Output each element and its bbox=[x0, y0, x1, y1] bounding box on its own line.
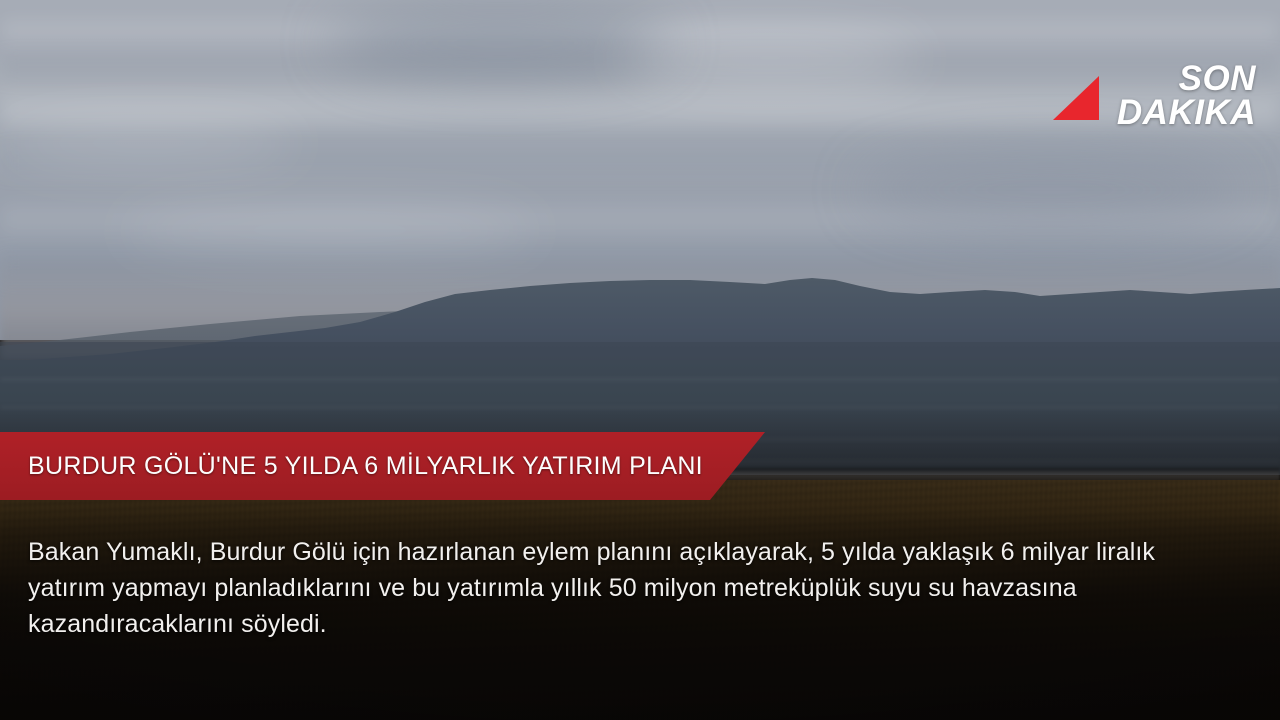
breaking-news-line1: SON bbox=[1117, 62, 1256, 96]
breaking-news-badge: SON DAKIKA bbox=[1053, 62, 1256, 130]
breaking-news-line2: DAKIKA bbox=[1117, 96, 1256, 130]
headline-text: BURDUR GÖLÜ'NE 5 YILDA 6 MİLYARLIK YATIR… bbox=[28, 432, 703, 500]
summary-text: Bakan Yumaklı, Burdur Gölü için hazırlan… bbox=[28, 534, 1188, 642]
breaking-news-label: SON DAKIKA bbox=[1117, 62, 1256, 130]
news-card: SON DAKIKA BURDUR GÖLÜ'NE 5 YILDA 6 MİLY… bbox=[0, 0, 1280, 720]
headline-ribbon: BURDUR GÖLÜ'NE 5 YILDA 6 MİLYARLIK YATIR… bbox=[0, 432, 790, 500]
red-triangle-logo-icon bbox=[1053, 76, 1099, 120]
